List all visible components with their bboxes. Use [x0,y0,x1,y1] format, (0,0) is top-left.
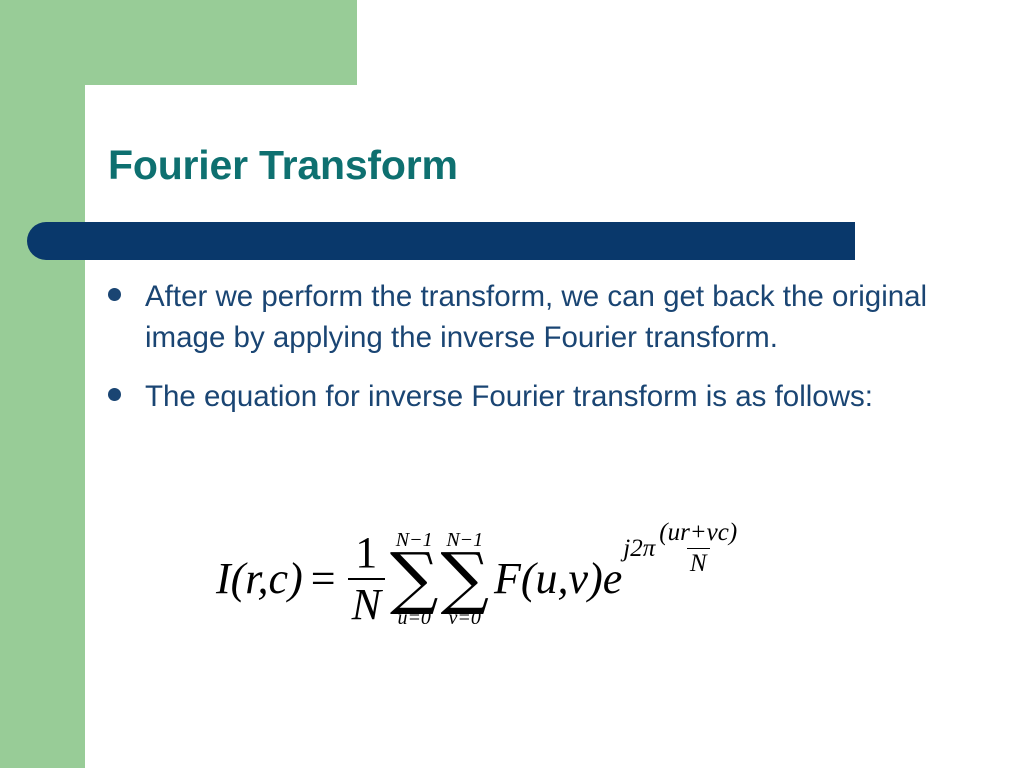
list-item: After we perform the transform, we can g… [108,276,948,358]
sigma-icon: ∑ [390,551,439,607]
green-sidebar-decoration [0,0,85,768]
summation-outer-lower-limit: u=0 [397,608,431,628]
inverse-fourier-transform-equation: I(r,c) = 1 N N−1 ∑ u=0 N−1 ∑ v=0 F(u,v)e… [216,530,740,628]
fraction-numerator: 1 [351,531,381,578]
exponent-prefix: j2π [623,535,655,563]
slide-canvas: Fourier Transform After we perform the t… [0,0,1024,768]
page-title: Fourier Transform [108,142,458,189]
bullet-text: After we perform the transform, we can g… [145,276,935,358]
sigma-icon: ∑ [440,551,489,607]
summation-inner: N−1 ∑ v=0 [440,530,489,628]
equation-function-term: F(u,v)e [494,553,622,604]
equation-equals-sign: = [311,553,336,604]
summation-inner-lower-limit: v=0 [449,608,481,628]
summation-outer: N−1 ∑ u=0 [390,530,439,628]
list-item: The equation for inverse Fourier transfo… [108,376,948,417]
bullet-marker-icon [108,388,121,401]
exponent-denominator: N [687,548,710,577]
exponent-fraction: (ur+vc) N [656,520,740,578]
fraction-denominator: N [348,578,385,627]
equation-fraction-one-over-n: 1 N [348,531,385,627]
bullet-text: The equation for inverse Fourier transfo… [145,376,948,417]
bullet-marker-icon [108,288,121,301]
green-top-block-decoration [0,0,357,85]
equation-exponent: j2π (ur+vc) N [623,520,740,578]
title-divider-bar [27,222,855,260]
equation-lhs: I(r,c) [216,553,303,604]
bullet-list: After we perform the transform, we can g… [108,276,948,435]
exponent-numerator: (ur+vc) [656,520,740,548]
